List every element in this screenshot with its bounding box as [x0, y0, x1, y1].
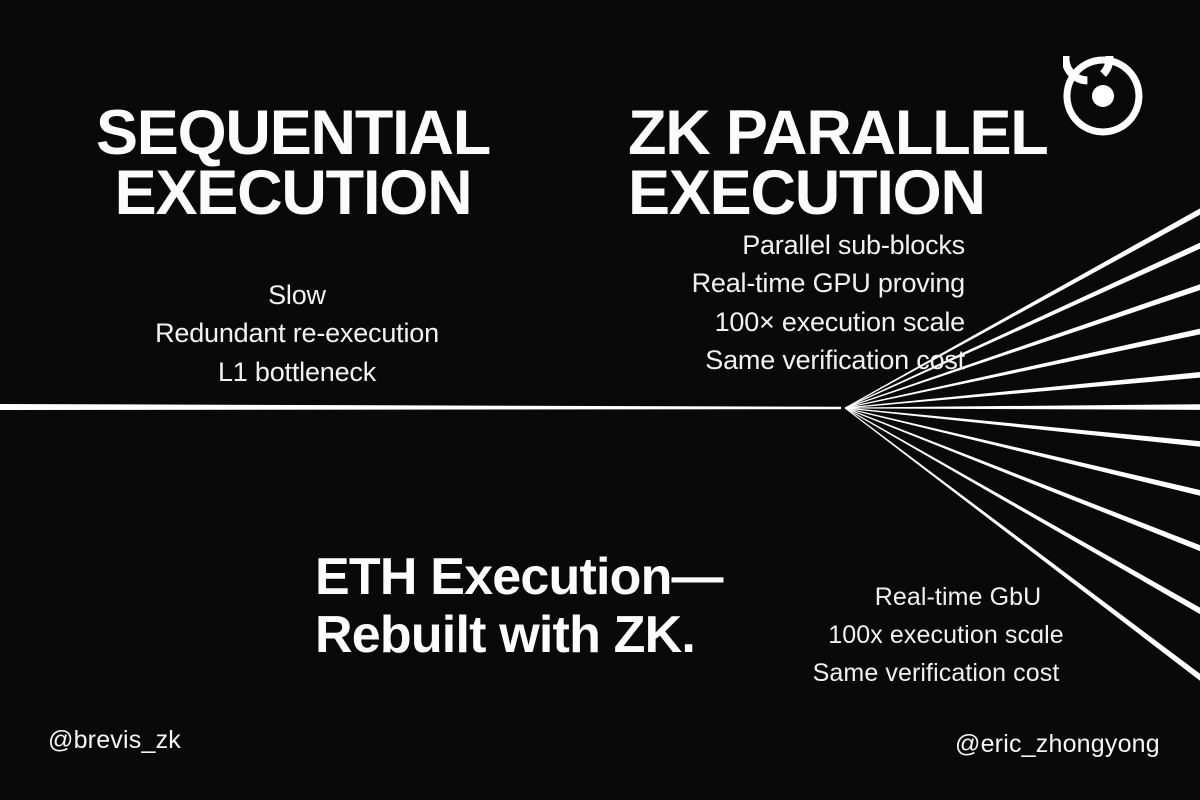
- bullet-item: Slow: [92, 276, 502, 314]
- fan-ray: [845, 404, 1200, 410]
- ghost-duplicate-text: Real-time GbU 100x execution scɑle Same …: [780, 578, 1100, 692]
- trunk-line: [0, 404, 841, 410]
- handle-eric-zhongyong[interactable]: @eric_zhongyong: [955, 730, 1160, 759]
- fan-ray: [845, 408, 1200, 503]
- fan-ray: [845, 408, 1200, 563]
- ghost-text-line: 100x execution scɑle: [786, 616, 1106, 654]
- ghost-text-line: Real-time GbU: [798, 578, 1118, 616]
- panel-title-sequential: SEQUENTIAL EXECUTION: [88, 104, 498, 224]
- handle-brevis-zk[interactable]: @brevis_zk: [48, 726, 181, 755]
- brevis-spiral-logo-icon: [1063, 56, 1143, 136]
- bullet-item: 100× execution scale: [560, 303, 965, 341]
- panel-title-zk-parallel: ZK PARALLEL EXECUTION: [628, 104, 1058, 224]
- poster-canvas: SEQUENTIAL EXECUTION ZK PARALLEL EXECUTI…: [0, 0, 1200, 800]
- fan-ray: [845, 408, 1200, 450]
- sequential-bullet-list: Slow Redundant re-execution L1 bottlenec…: [92, 276, 502, 391]
- ghost-text-line: Same verification cost: [776, 654, 1096, 692]
- bullet-item: Redundant re-execution: [92, 314, 502, 352]
- bullet-item: Real-time GPU proving: [560, 264, 965, 302]
- bullet-item: Parallel sub-blocks: [560, 226, 965, 264]
- zk-parallel-bullet-list: Parallel sub-blocks Real-time GPU provin…: [560, 226, 965, 379]
- bullet-item: Same verification cost: [560, 341, 965, 379]
- bullet-item: L1 bottleneck: [92, 353, 502, 391]
